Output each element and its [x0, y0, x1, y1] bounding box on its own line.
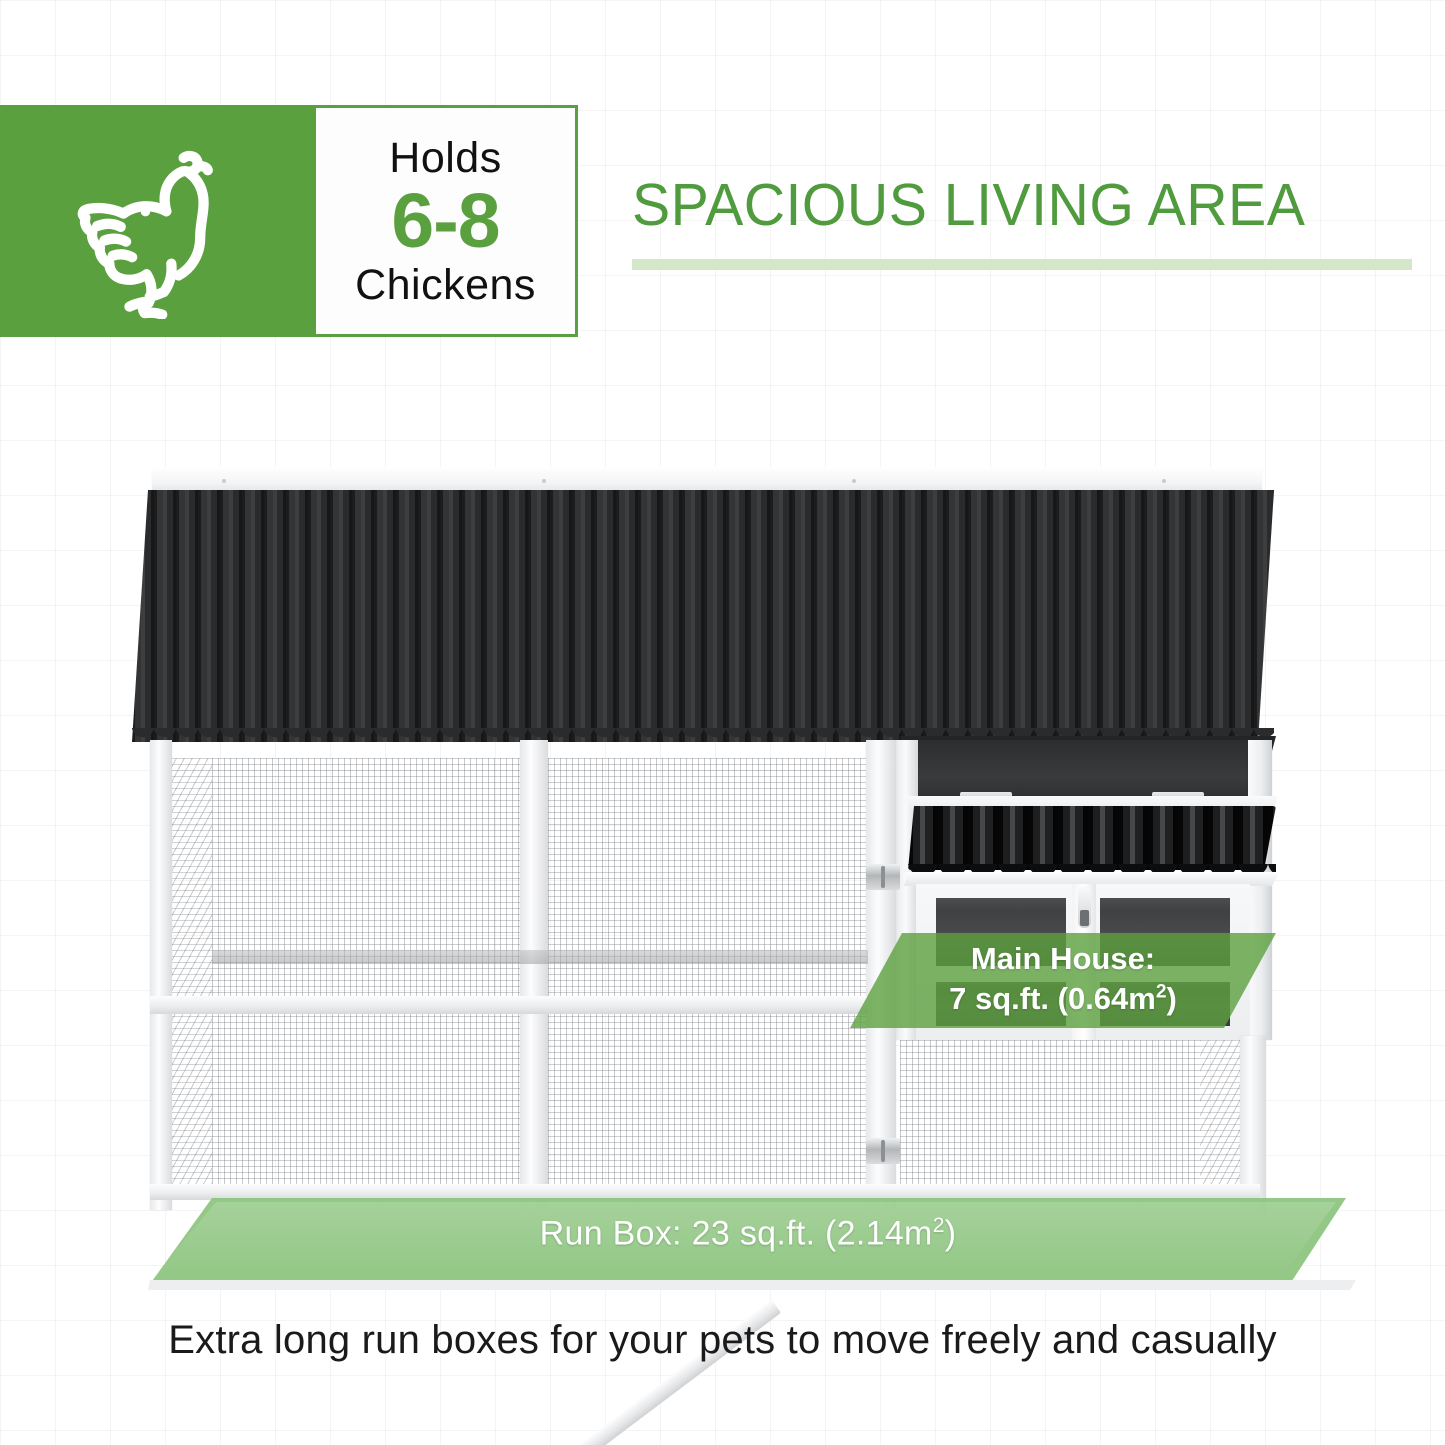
product-feature-image: Holds 6-8 Chickens SPACIOUS LIVING AREA	[0, 0, 1445, 1445]
footer-caption: Extra long run boxes for your pets to mo…	[0, 1318, 1445, 1363]
badge-text-panel: Holds 6-8 Chickens	[316, 105, 578, 337]
chicken-icon	[63, 124, 253, 319]
main-house-area-text: 7 sq.ft. (0.64m	[949, 981, 1156, 1016]
page-title: SPACIOUS LIVING AREA	[632, 176, 1398, 235]
main-house-area-close: )	[1167, 981, 1177, 1016]
run-box-base-rail	[148, 1280, 1356, 1290]
nest-box-roof	[908, 806, 1276, 870]
run-mesh-door-panel	[548, 758, 868, 1198]
run-mesh-left-side	[168, 758, 212, 1198]
run-box-callout-label: Run Box: 23 sq.ft. (2.14m2)	[150, 1214, 1346, 1253]
run-box-callout-text: Run Box: 23 sq.ft. (2.14m	[540, 1214, 933, 1252]
run-mesh-panel-left	[212, 758, 524, 1198]
run-rail-inner-back	[212, 950, 868, 964]
capacity-badge: Holds 6-8 Chickens	[0, 105, 578, 337]
title-underline	[632, 259, 1412, 270]
main-house-callout-label: Main House: 7 sq.ft. (0.64m2)	[850, 939, 1276, 1018]
run-post-left	[150, 740, 172, 1210]
nest-door-latch-body[interactable]	[1080, 910, 1089, 926]
run-rail-bottom	[150, 1184, 1260, 1200]
run-box-callout-sup: 2	[933, 1214, 945, 1237]
run-rail-middle	[150, 996, 868, 1014]
main-house-callout-line1: Main House:	[850, 939, 1276, 979]
run-post-center	[520, 740, 548, 1210]
door-hinge-top[interactable]	[866, 864, 900, 890]
badge-icon-panel	[0, 105, 316, 337]
main-roof-corrugated	[132, 490, 1274, 742]
main-house-area-sup: 2	[1156, 981, 1167, 1002]
door-hinge-bottom[interactable]	[866, 1138, 900, 1164]
badge-suffix-label: Chickens	[355, 264, 536, 307]
run-box-callout-close: )	[945, 1214, 957, 1252]
run-mesh-under-house	[900, 1040, 1200, 1200]
badge-prefix-label: Holds	[389, 137, 501, 180]
badge-count-label: 6-8	[391, 180, 499, 263]
headline-block: SPACIOUS LIVING AREA	[632, 176, 1422, 270]
main-house-callout-line2: 7 sq.ft. (0.64m2)	[850, 979, 1276, 1019]
product-illustration: Run Box: 23 sq.ft. (2.14m2) Main House: …	[0, 440, 1445, 1290]
